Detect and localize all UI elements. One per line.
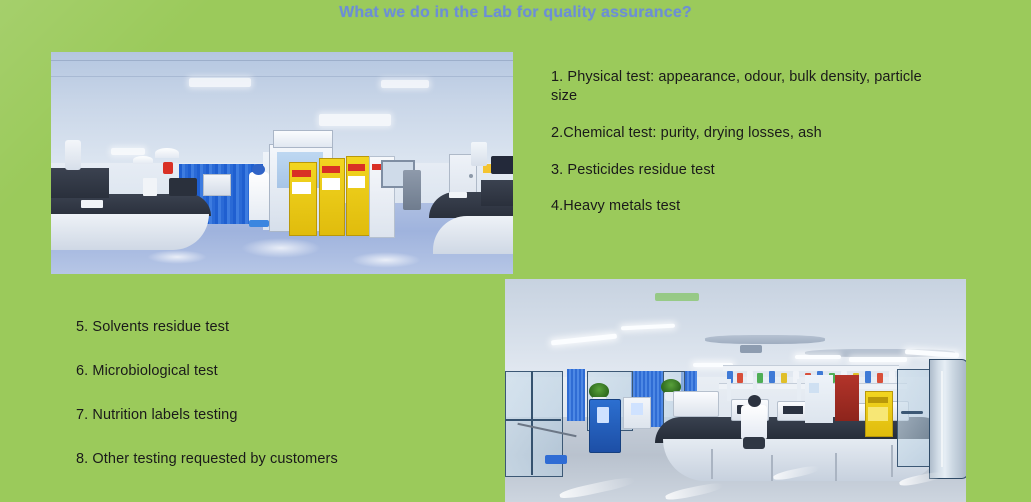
list-item: 1. Physical test: appearance, odour, bul… [551,68,936,106]
slide-canvas: What we do in the Lab for quality assura… [0,0,1031,502]
lab-stool [743,437,765,449]
suspended-lamp [133,156,153,164]
ceiling-light-panel [319,114,391,126]
blue-curtain [567,369,585,421]
bench-instrument [143,178,157,196]
reagent-bottle [865,371,871,383]
bench-item [81,200,103,208]
list-item: 5. Solvents residue test [76,318,496,337]
ceiling-light-panel [189,78,251,87]
fluorescent-tube-light [849,357,907,362]
list-item: 6. Microbiological test [76,362,496,381]
bottom-test-list: 5. Solvents residue test 6. Microbiologi… [76,318,496,468]
door-handle-icon [901,411,923,414]
technician-seated-head [748,395,761,407]
lab-stand [727,379,731,401]
frosted-glass-column [929,359,966,479]
column-highlight [941,371,943,467]
lab-cleanroom-photo [51,52,513,274]
ceiling-seam [51,76,513,77]
lab-instrument [673,391,719,417]
reagent-bottle [877,373,883,383]
list-item: 8. Other testing requested by customers [76,450,496,469]
list-item: 4.Heavy metals test [551,197,936,216]
cabinet-label [868,397,888,403]
technician-head [252,164,265,175]
reagent-bottle [757,373,763,383]
ceiling-light-panel [111,148,145,155]
glass-mullion [531,371,533,475]
floor-reflection [241,238,321,258]
bench-panel-seam [891,445,893,477]
glass-mullion [505,419,561,421]
right-test-list: 1. Physical test: appearance, odour, bul… [551,68,936,216]
lab-apparatus [65,140,81,170]
list-item: 3. Pesticides residue test [551,161,936,180]
ceiling-duct [705,335,825,344]
list-item: 2.Chemical test: purity, drying losses, … [551,124,936,143]
wall-sign [809,383,819,393]
bench-panel-seam [835,453,837,481]
cabinet-label [868,407,888,421]
lab-countertop-rear-right [481,180,513,206]
reagent-bottle [769,371,775,383]
ceiling-light-panel [381,80,429,88]
reagent-bottle [163,162,173,174]
technician-seated-labcoat [741,405,767,439]
lab-countertop-rear [51,168,109,198]
bench-instrument [203,174,231,196]
reagent-bottle [737,373,743,383]
fluorescent-tube-light [795,355,841,359]
reagent-bottle [889,371,895,383]
ceiling-vent [740,345,762,353]
shoe-covers [249,220,269,227]
floor-reflection [351,252,421,268]
technician-labcoat [249,172,269,224]
ceiling-marker [655,293,699,301]
page-title: What we do in the Lab for quality assura… [0,4,1031,22]
suspended-lamp [155,148,179,158]
cabinet-label [292,182,311,194]
bench-item [449,192,467,198]
fume-hood-canopy [273,130,333,148]
door-handle-icon [469,174,473,178]
refrigerator-display [597,407,609,423]
red-door [835,375,859,421]
computer-monitor [491,156,513,174]
waste-bin [403,170,421,210]
list-item: 7. Nutrition labels testing [76,406,496,425]
cabinet-warning-label [292,170,311,177]
glass-door [897,369,933,467]
instrument-display [631,403,643,415]
lab-bench-base [51,214,209,250]
lab-apparatus [471,142,487,166]
bench-panel-seam [711,449,713,479]
ceiling-seam [51,60,513,61]
lab-analytical-photo [505,279,966,502]
floor-equipment-case [545,455,567,464]
bench-instrument [169,178,197,196]
floor-reflection [147,250,207,264]
